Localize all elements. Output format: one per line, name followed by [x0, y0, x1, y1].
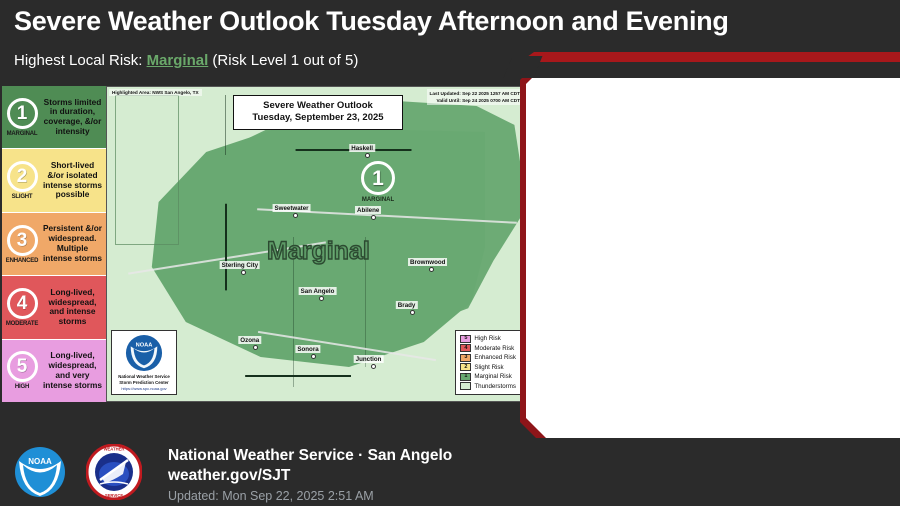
noaa-logo-icon: NOAA: [125, 334, 163, 372]
outlook-map[interactable]: Highlighted Area: NWS San Angelo, TX Las…: [106, 86, 526, 402]
map-city-dot: [371, 215, 376, 220]
risk-tier-enhanced: 3ENHANCEDPersistent &/or widespread. Mul…: [2, 213, 106, 276]
risk-tier-description: Long-lived, widespread, and very intense…: [42, 350, 106, 391]
map-legend-row: 3Enhanced Risk: [460, 353, 516, 363]
footer-bar: NOAA WEATHER SERVICE National Weather Se…: [0, 438, 900, 506]
info-panel: [526, 54, 900, 448]
page-title: Severe Weather Outlook Tuesday Afternoon…: [14, 6, 729, 37]
risk-tier-description: Storms limited in duration, coverage, &/…: [42, 97, 106, 138]
map-risk-badge: 1 MARGINAL: [355, 161, 401, 203]
map-city-dot: [319, 296, 324, 301]
risk-tier-name: SLIGHT: [12, 194, 33, 200]
map-legend-label: High Risk: [474, 335, 500, 342]
risk-tier-number: 4: [7, 288, 38, 319]
svg-text:NOAA: NOAA: [28, 457, 52, 466]
map-highlighted-area-label: Highlighted Area: NWS San Angelo, TX: [109, 89, 202, 96]
spc-url[interactable]: https://www.spc.noaa.gov: [114, 386, 174, 391]
footer-updated-time: Updated: Mon Sep 22, 2025 2:51 AM: [168, 487, 452, 506]
map-city-label: Brady: [396, 301, 418, 309]
spc-line1: National Weather Service: [114, 374, 174, 380]
map-legend-label: Moderate Risk: [474, 345, 514, 352]
map-city-label: Ozona: [238, 336, 261, 344]
map-legend-label: Thunderstorms: [474, 383, 516, 390]
risk-tier-badge: 5HIGH: [2, 340, 42, 402]
risk-tier-badge: 4MODERATE: [2, 276, 42, 338]
risk-tier-high: 5HIGHLong-lived, widespread, and very in…: [2, 340, 106, 402]
risk-tier-description: Persistent &/or widespread. Multiple int…: [42, 223, 106, 264]
map-legend-swatch: [460, 382, 471, 390]
risk-tier-badge: 1MARGINAL: [2, 86, 42, 148]
map-city-dot: [253, 345, 258, 350]
map-risk-badge-name: MARGINAL: [362, 197, 394, 203]
map-legend-row: 5High Risk: [460, 334, 516, 344]
map-city-label: San Angelo: [299, 287, 337, 295]
map-validity-label: Last Updated: Sep 22 2025 1257 AM CDT Va…: [427, 89, 523, 105]
spc-line2: Storm Prediction Center: [114, 380, 174, 386]
svg-text:SERVICE: SERVICE: [105, 493, 124, 498]
header-red-accent: [520, 52, 900, 62]
risk-tier-name: MARGINAL: [7, 131, 38, 137]
map-city-label: Sweetwater: [273, 204, 311, 212]
risk-label-prefix: Highest Local Risk:: [14, 52, 147, 69]
risk-label-suffix: (Risk Level 1 out of 5): [208, 52, 358, 69]
footer-text-block: National Weather Service · San Angelo we…: [168, 446, 452, 506]
map-legend-row: 2Slight Risk: [460, 363, 516, 373]
map-legend-row: Thunderstorms: [460, 382, 516, 392]
map-city-dot: [410, 310, 415, 315]
map-city-label: Haskell: [349, 144, 375, 152]
risk-tier-name: HIGH: [15, 384, 29, 390]
map-legend-label: Slight Risk: [474, 364, 503, 371]
svg-text:NOAA: NOAA: [136, 342, 153, 348]
noaa-logo-icon: NOAA: [14, 446, 66, 498]
risk-tier-moderate: 4MODERATELong-lived, widespread, and int…: [2, 276, 106, 339]
header-bar: Severe Weather Outlook Tuesday Afternoon…: [0, 0, 900, 78]
map-county-line: [225, 95, 226, 155]
spc-logo-box: NOAA National Weather Service Storm Pred…: [111, 330, 177, 395]
map-city-dot: [371, 364, 376, 369]
footer-website[interactable]: weather.gov/SJT: [168, 466, 452, 486]
map-last-updated: Last Updated: Sep 22 2025 1257 AM CDT: [430, 90, 520, 97]
map-title-box: Severe Weather Outlook Tuesday, Septembe…: [233, 95, 403, 130]
map-legend-swatch: 5: [460, 335, 471, 343]
map-legend-row: 1Marginal Risk: [460, 372, 516, 382]
risk-tier-slight: 2SLIGHTShort-lived &/or isolated intense…: [2, 149, 106, 212]
map-legend-label: Marginal Risk: [474, 373, 511, 380]
map-risk-badge-level: 1: [361, 161, 395, 195]
map-legend-label: Enhanced Risk: [474, 354, 516, 361]
risk-tier-badge: 2SLIGHT: [2, 149, 42, 211]
risk-level-link[interactable]: Marginal: [147, 52, 209, 69]
map-city-label: Abilene: [355, 206, 381, 214]
map-title-line2: Tuesday, September 23, 2025: [240, 112, 396, 124]
map-city-dot: [429, 267, 434, 272]
map-city-label: Brownwood: [408, 258, 447, 266]
map-legend-swatch: 1: [460, 373, 471, 381]
map-legend-swatch: 3: [460, 354, 471, 362]
svg-text:WEATHER: WEATHER: [104, 447, 125, 452]
risk-tier-number: 1: [7, 98, 38, 129]
highest-local-risk-line: Highest Local Risk: Marginal (Risk Level…: [14, 52, 358, 69]
map-city-label: Sterling City: [220, 261, 260, 269]
map-legend-row: 4Moderate Risk: [460, 344, 516, 354]
map-state-line: [115, 95, 179, 245]
footer-organization: National Weather Service · San Angelo: [168, 446, 452, 466]
risk-tier-name: ENHANCED: [6, 258, 38, 264]
map-city-label: Junction: [354, 355, 384, 363]
risk-level-legend: 1MARGINALStorms limited in duration, cov…: [2, 86, 106, 402]
risk-tier-description: Long-lived, widespread, and intense stor…: [42, 287, 106, 328]
map-city-dot: [293, 213, 298, 218]
map-city-dot: [241, 270, 246, 275]
risk-tier-number: 5: [7, 351, 38, 382]
risk-tier-description: Short-lived &/or isolated intense storms…: [42, 160, 106, 201]
risk-tier-marginal: 1MARGINALStorms limited in duration, cov…: [2, 86, 106, 149]
map-valid-until: Valid Until: Sep 24 2025 0700 AM CDT: [430, 97, 520, 104]
nws-seal-icon: WEATHER SERVICE: [86, 444, 142, 500]
map-legend-swatch: 4: [460, 344, 471, 352]
map-city-label: Sonora: [295, 345, 320, 353]
risk-tier-number: 2: [7, 161, 38, 192]
map-legend-swatch: 2: [460, 363, 471, 371]
map-area-word: Marginal: [267, 237, 370, 266]
map-title-line1: Severe Weather Outlook: [240, 100, 396, 112]
map-risk-legend: 5High Risk4Moderate Risk3Enhanced Risk2S…: [455, 330, 521, 395]
risk-tier-name: MODERATE: [6, 321, 38, 327]
risk-tier-number: 3: [7, 225, 38, 256]
map-city-dot: [311, 354, 316, 359]
risk-tier-badge: 3ENHANCED: [2, 213, 42, 275]
map-city-dot: [365, 153, 370, 158]
